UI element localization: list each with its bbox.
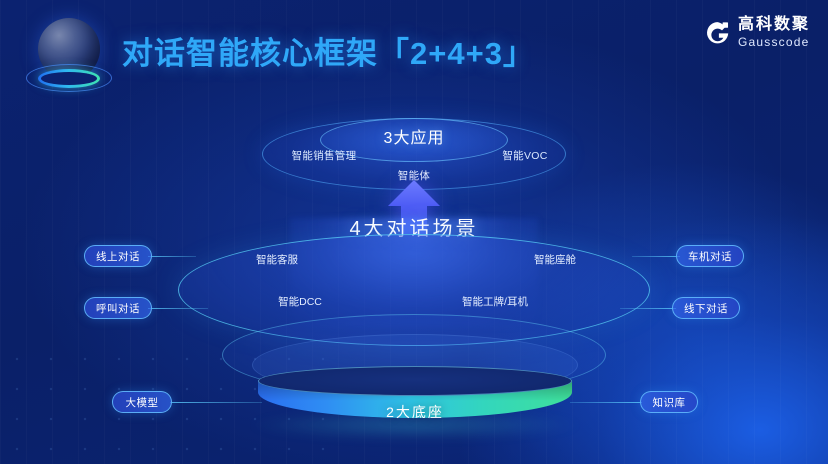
slide-header: 对话智能核心框架「2+4+3」 高科数聚 Gausscode bbox=[0, 0, 828, 104]
slide-canvas: 对话智能核心框架「2+4+3」 高科数聚 Gausscode 3大应用 智能销售… bbox=[0, 0, 828, 464]
connector-line-llm bbox=[170, 402, 262, 403]
application-item-voc: 智能VOC bbox=[470, 148, 580, 163]
base-cylinder-top-face bbox=[258, 366, 572, 396]
side-label-in-vehicle-dialog[interactable]: 车机对话 bbox=[676, 245, 744, 267]
brand-name-en: Gausscode bbox=[738, 36, 810, 48]
connector-line-invehicle bbox=[632, 256, 680, 257]
gausscode-g-logo-icon bbox=[705, 20, 731, 46]
scene-item-customer-service: 智能客服 bbox=[212, 252, 342, 267]
connector-line-online bbox=[148, 256, 196, 257]
orb-inner-ring bbox=[38, 69, 100, 88]
scene-item-badge-headset: 智能工牌/耳机 bbox=[420, 294, 570, 309]
brand-logo: 高科数聚 Gausscode bbox=[705, 17, 810, 48]
side-label-knowledge-base[interactable]: 知识库 bbox=[640, 391, 698, 413]
side-label-call-dialog[interactable]: 呼叫对话 bbox=[84, 297, 152, 319]
base-layer-title: 2大底座 bbox=[258, 402, 572, 422]
application-item-sales-management: 智能销售管理 bbox=[264, 148, 384, 163]
connector-line-offline bbox=[620, 308, 676, 309]
side-label-large-model[interactable]: 大模型 bbox=[112, 391, 172, 413]
connector-line-call bbox=[148, 308, 208, 309]
base-layer-cylinder: 2大底座 bbox=[258, 366, 572, 432]
scene-item-dcc: 智能DCC bbox=[240, 294, 360, 309]
application-layer-title: 3大应用 bbox=[262, 124, 566, 148]
framework-diagram: 3大应用 智能销售管理 智能VOC 智能体 4大对话场景 智能客服 智能座舱 智… bbox=[0, 96, 828, 464]
scene-item-smart-cockpit: 智能座舱 bbox=[490, 252, 620, 267]
side-label-online-dialog[interactable]: 线上对话 bbox=[84, 245, 152, 267]
connector-line-knowledge bbox=[570, 402, 642, 403]
brand-logo-text: 高科数聚 Gausscode bbox=[738, 17, 810, 48]
sphere-orb-icon bbox=[24, 12, 114, 102]
side-label-offline-dialog[interactable]: 线下对话 bbox=[672, 297, 740, 319]
brand-name-cn: 高科数聚 bbox=[738, 17, 810, 33]
page-title: 对话智能核心框架「2+4+3」 bbox=[122, 28, 535, 73]
